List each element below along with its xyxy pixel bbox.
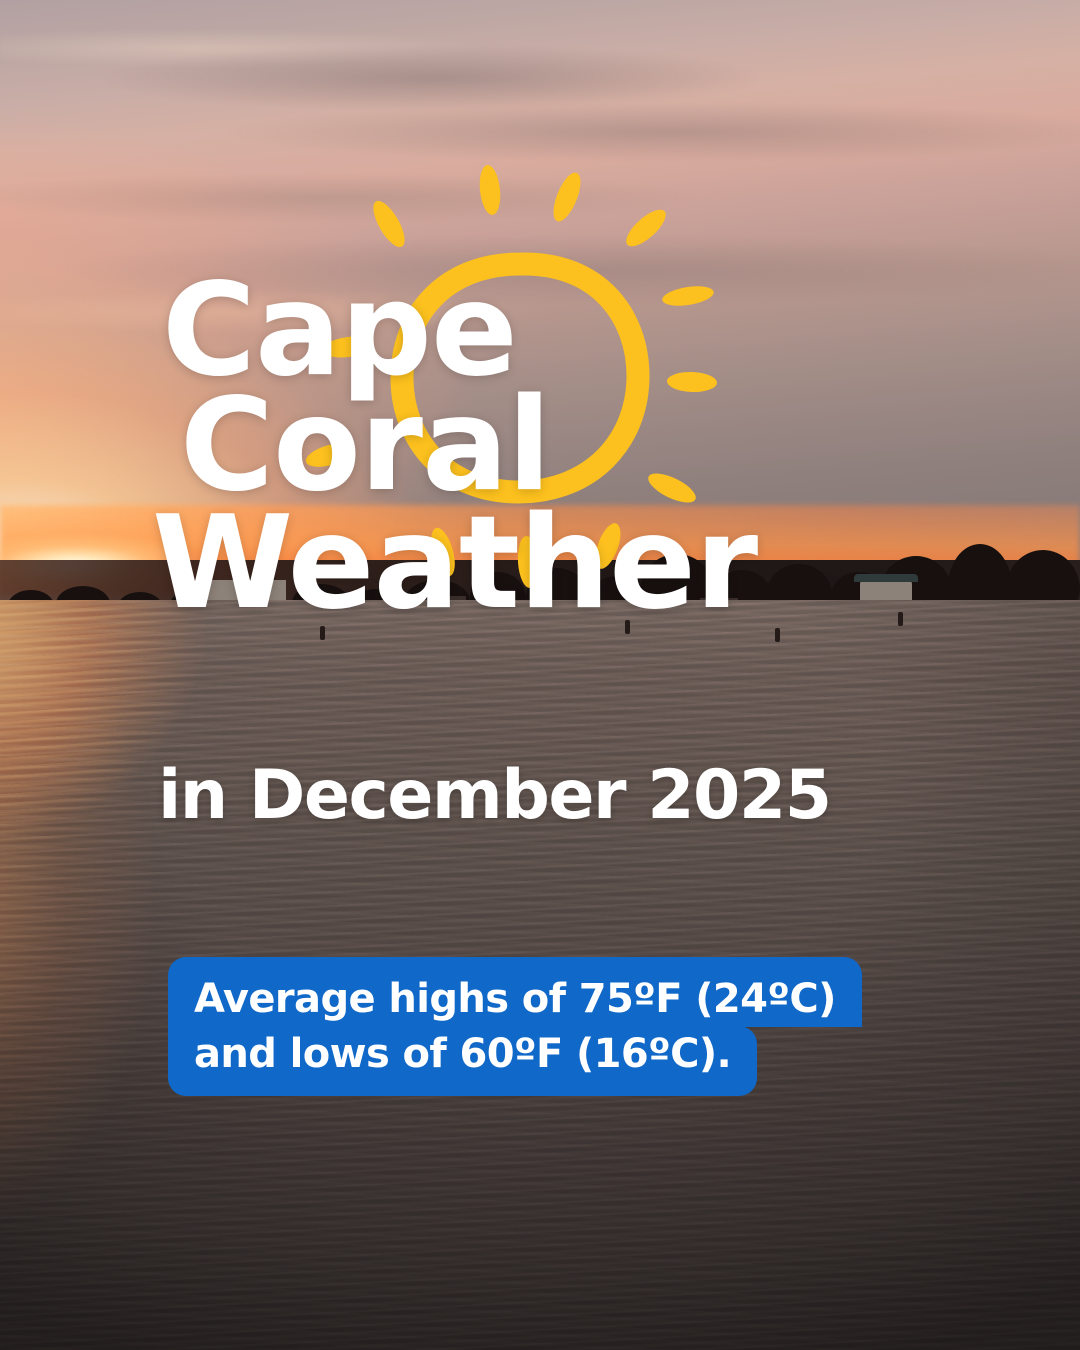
subtitle: in December 2025 [158,756,831,835]
page-title: Cape Coral Weather [150,268,770,626]
title-line-3: Weather [152,501,770,626]
badge-line-1: Average highs of 75ºF (24ºC) [168,957,862,1027]
weather-poster: Cape Coral Weather in December 2025 Aver… [0,0,1080,1350]
buoy [898,612,903,626]
badge-line-2: and lows of 60ºF (16ºC). [168,1026,757,1096]
background-photo [0,0,1080,1350]
status-badge: Average highs of 75ºF (24ºC) and lows of… [168,957,978,1096]
buoy [775,628,780,642]
